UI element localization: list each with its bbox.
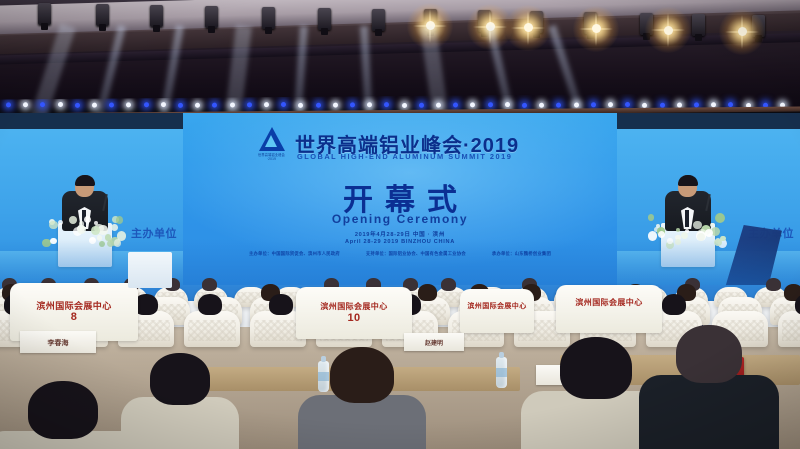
- led-point-light: [195, 102, 200, 107]
- led-point-light: [109, 102, 114, 107]
- session-title-en: Opening Ceremony: [183, 212, 617, 226]
- stage-light-fixture: [372, 9, 385, 31]
- flower: [58, 220, 63, 225]
- event-title-en: GLOBAL HIGH-END ALUMINUM SUMMIT 2019: [297, 152, 512, 161]
- stage-light-fixture: [262, 7, 275, 29]
- stage-light-fixture: [318, 8, 331, 30]
- place-name-card: 李春海: [20, 331, 96, 353]
- audience-head: [269, 294, 293, 315]
- stage-light-fixture: [96, 4, 109, 26]
- stage-light-fixture: [150, 5, 163, 27]
- video-letterbox: [617, 113, 800, 129]
- led-point-light: [281, 102, 286, 107]
- audience-head: [560, 337, 632, 399]
- led-point-light: [470, 102, 475, 107]
- flower: [84, 216, 91, 223]
- led-point-light: [591, 102, 596, 107]
- speaker-hair: [75, 175, 95, 186]
- chair-cover: 滨州国际会展中心: [460, 289, 534, 333]
- audience-head: [662, 294, 686, 315]
- led-point-light: [384, 102, 389, 107]
- water-bottle: [318, 361, 329, 392]
- flower: [116, 216, 124, 224]
- speaker-hair: [678, 175, 698, 186]
- logo-caption: 世界高端铝业峰会·2019: [255, 153, 288, 162]
- led-point-light: [23, 102, 28, 107]
- conference-hall-photo: 主办单位 主办单位 世界高端铝业峰会·2019 世界高: [0, 0, 800, 449]
- audience-shoulders: [639, 375, 779, 449]
- led-point-light: [556, 102, 561, 107]
- flower: [715, 213, 725, 223]
- led-point-light: [436, 102, 441, 107]
- led-point-light: [298, 102, 303, 107]
- led-point-light: [92, 102, 97, 107]
- audience-area: 新 Na h I v anufa AKM 滨州国际会展中心 8 滨州国际会展中心…: [0, 285, 800, 449]
- stage-podium: [128, 252, 172, 288]
- led-point-light: [178, 102, 183, 107]
- ceiling: [0, 0, 800, 108]
- audience-head: [418, 284, 437, 301]
- chair-cover-number: 10: [296, 312, 412, 324]
- led-point-light: [608, 102, 613, 107]
- led-point-light: [333, 102, 338, 107]
- place-name-card: 赵建明: [404, 333, 464, 351]
- led-point-light: [264, 102, 269, 107]
- led-point-light: [642, 102, 647, 107]
- chair-cover-number: 8: [10, 311, 138, 323]
- led-point-light: [40, 102, 45, 107]
- led-point-light: [6, 102, 11, 107]
- warm-spotlight: [573, 6, 619, 52]
- led-point-light: [161, 102, 166, 107]
- audience-head: [28, 381, 98, 439]
- audience-head: [330, 347, 394, 403]
- led-point-light: [402, 102, 407, 107]
- led-point-light: [539, 102, 544, 107]
- led-point-light: [75, 102, 80, 107]
- audience-head: [766, 278, 781, 291]
- led-point-light: [212, 102, 217, 107]
- warm-spotlight: [645, 7, 691, 53]
- led-point-light: [58, 102, 63, 107]
- flower: [648, 214, 654, 220]
- stage-light-fixture: [692, 14, 705, 36]
- flower: [91, 226, 100, 235]
- led-point-light: [505, 102, 510, 107]
- flower: [69, 216, 77, 224]
- led-video-wall: 主办单位 主办单位 世界高端铝业峰会·2019 世界高: [0, 113, 800, 285]
- flower: [681, 232, 688, 239]
- led-point-light: [625, 102, 630, 107]
- audience-chair: [184, 311, 240, 347]
- audience-head: [441, 278, 456, 291]
- flower: [77, 225, 86, 234]
- video-letterbox: [0, 113, 183, 129]
- audience-head: [676, 325, 742, 383]
- audience-head: [150, 353, 210, 405]
- flower: [693, 221, 701, 229]
- led-point-light: [247, 102, 252, 107]
- led-point-light: [316, 102, 321, 107]
- audience-shoulders: [298, 395, 426, 449]
- led-point-light: [126, 102, 131, 107]
- name-card-text: 赵建明: [404, 338, 464, 347]
- led-point-light: [367, 102, 372, 107]
- audience-head: [198, 294, 222, 315]
- chair-cover-venue: 滨州国际会展中心: [460, 301, 534, 311]
- stage-light-fixture: [205, 6, 218, 28]
- name-card-text: 李春海: [20, 338, 96, 348]
- flower: [705, 229, 713, 237]
- stage-light-fixture: [38, 3, 51, 25]
- flower: [49, 221, 57, 229]
- led-point-light: [350, 102, 355, 107]
- chair-cover-venue: 滨州国际会展中心: [556, 297, 662, 308]
- chair-cover: 滨州国际会展中心 10: [296, 287, 412, 339]
- audience-chair: [778, 311, 800, 347]
- water-bottle: [496, 357, 507, 388]
- chair-cover: 滨州国际会展中心: [556, 285, 662, 333]
- flower: [111, 224, 118, 231]
- flower: [658, 231, 665, 238]
- led-point-light: [488, 102, 493, 107]
- audience-head: [202, 278, 217, 291]
- warm-spotlight: [719, 9, 765, 55]
- led-point-light: [230, 102, 235, 107]
- led-point-light: [522, 102, 527, 107]
- wall-bottom-fade: [0, 239, 800, 285]
- led-point-light: [574, 102, 579, 107]
- chair-cover-venue: 滨州国际会展中心: [296, 301, 412, 312]
- summit-logo-icon: 世界高端铝业峰会·2019: [255, 127, 288, 167]
- led-point-light: [144, 102, 149, 107]
- led-point-light: [453, 102, 458, 107]
- led-point-light: [419, 102, 424, 107]
- flower: [676, 228, 680, 232]
